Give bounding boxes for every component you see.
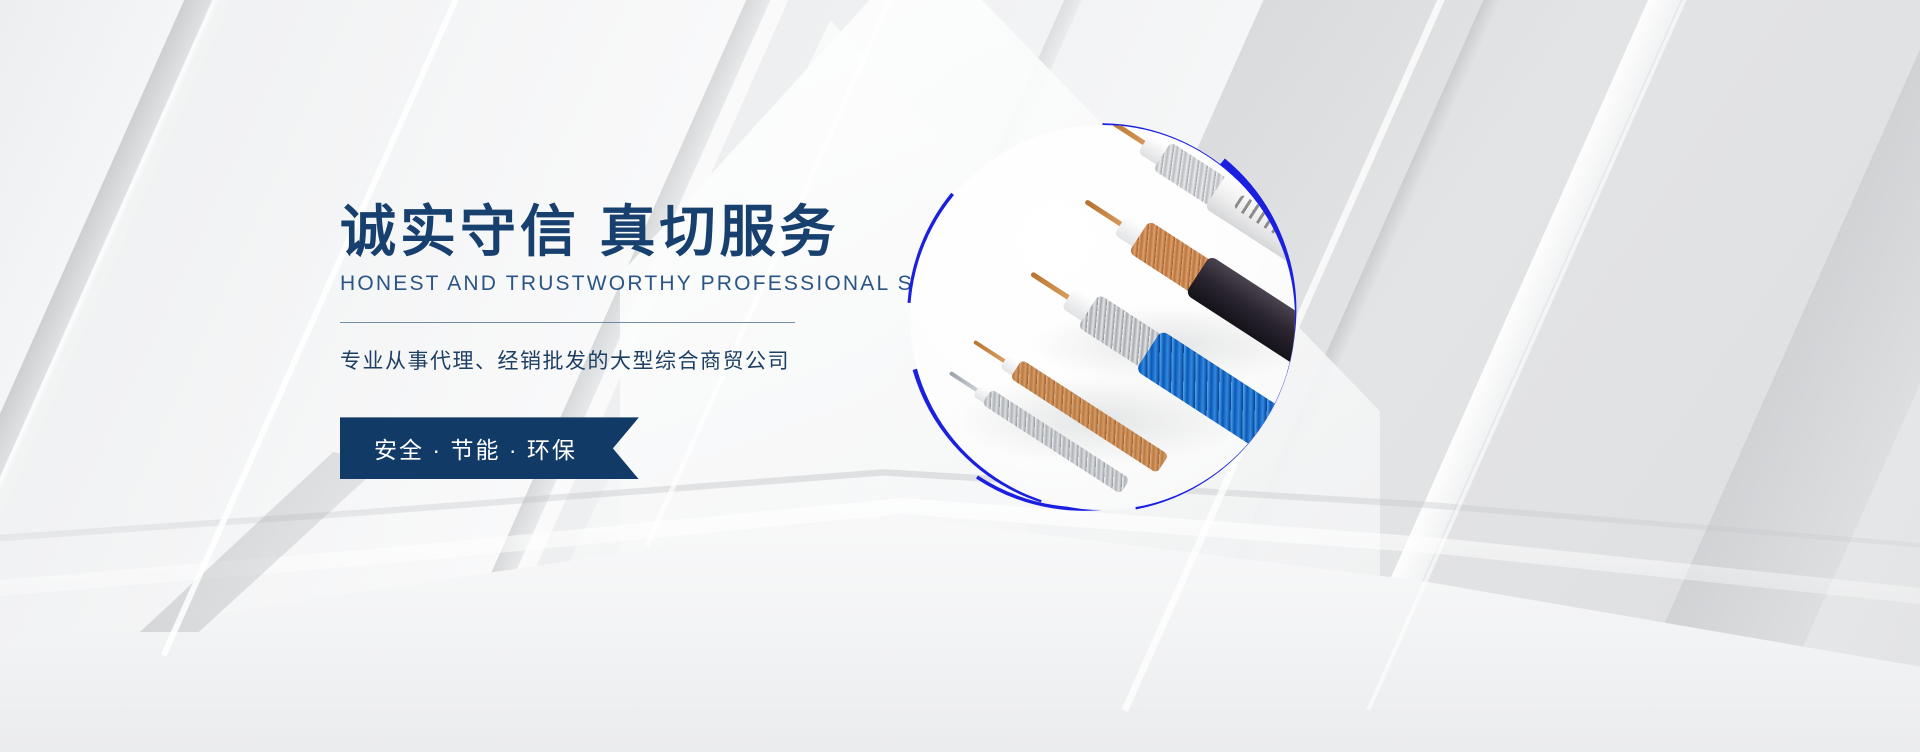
bg-band-4 <box>0 0 324 752</box>
banner-description: 专业从事代理、经销批发的大型综合商贸公司 <box>340 345 960 375</box>
bg-right-plane-outer <box>1480 0 1920 752</box>
bg-band-3 <box>0 0 305 752</box>
bg-band-2 <box>0 0 7 752</box>
banner-headline: 诚实守信 真切服务 <box>340 200 960 264</box>
cable-photo-circle <box>910 125 1295 510</box>
banner-text-block: 诚实守信 真切服务 HONEST AND TRUSTWORTHY PROFESS… <box>340 200 960 479</box>
banner-subtitle-english: HONEST AND TRUSTWORTHY PROFESSIONAL SERV… <box>340 272 960 296</box>
text-divider <box>340 322 795 323</box>
promo-banner: 诚实守信 真切服务 HONEST AND TRUSTWORTHY PROFESS… <box>0 0 1920 752</box>
cable-illustration <box>910 125 1295 510</box>
product-photo-module <box>910 125 1295 510</box>
bg-right-plane-highlight <box>1234 0 1770 752</box>
bg-streak-5 <box>0 0 234 711</box>
feature-tag-badge: 安全 · 节能 · 环保 <box>340 417 639 479</box>
bg-streak-4 <box>1366 0 1703 711</box>
